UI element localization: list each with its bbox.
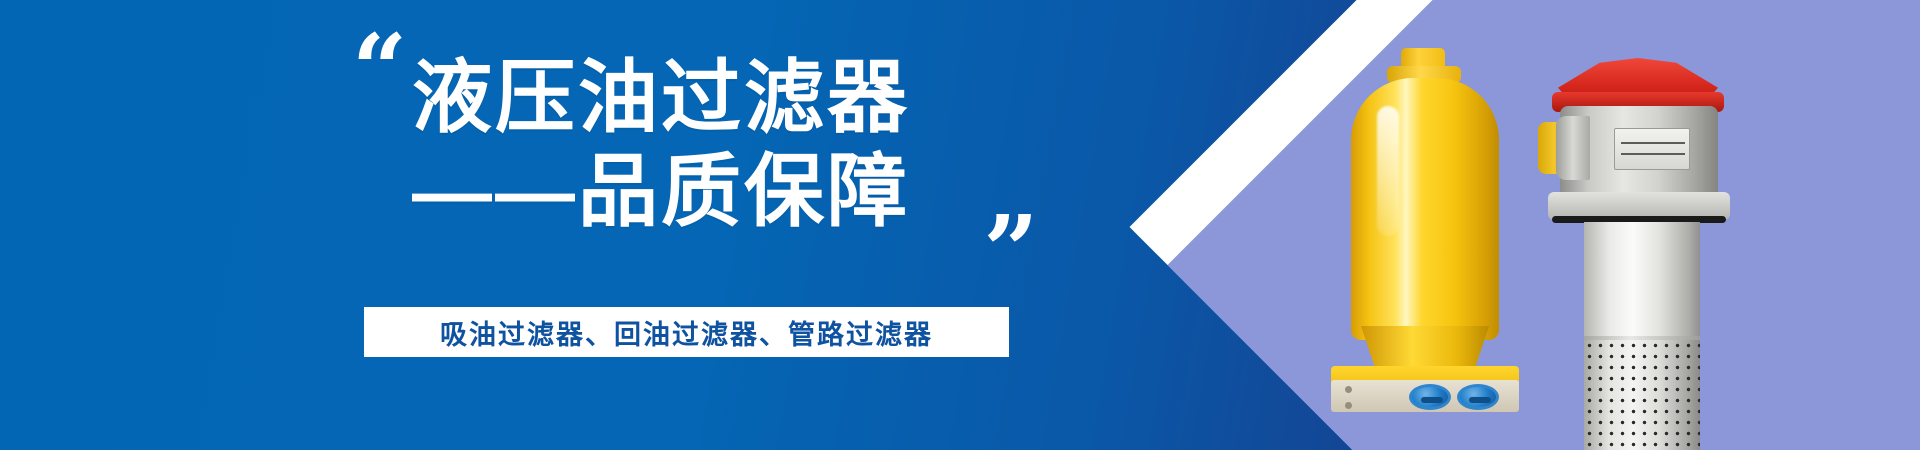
perforated-mesh-screen [1584,340,1700,450]
blue-port-icon [1457,384,1499,410]
yellow-filter-body [1351,78,1499,340]
spec-nameplate [1614,128,1690,170]
mount-bolt-icon [1345,386,1352,393]
banner-title-line-1: 液压油过滤器 [412,58,910,138]
product-images [1060,0,1920,450]
banner-copy: “ 液压油过滤器 ——品质保障 „ 吸油过滤器、回油过滤器、管路过滤器 [0,0,1120,450]
yellow-filter-highlight [1377,106,1399,236]
banner-title-line-2: ——品质保障 [412,152,910,232]
mount-bolt-icon [1345,402,1352,409]
close-quote-icon: „ [985,148,1038,244]
gray-side-fitting [1556,116,1590,180]
product-image-return-filter [1530,40,1760,410]
banner-subtitle-text: 吸油过滤器、回油过滤器、管路过滤器 [440,313,933,352]
open-quote-icon: “ [352,22,405,118]
filter-tube [1584,222,1700,350]
product-banner: “ 液压油过滤器 ——品质保障 „ 吸油过滤器、回油过滤器、管路过滤器 [0,0,1920,450]
blue-port-icon [1409,384,1451,410]
banner-subtitle-box: 吸油过滤器、回油过滤器、管路过滤器 [364,307,1009,357]
product-image-suction-filter [1325,48,1525,398]
